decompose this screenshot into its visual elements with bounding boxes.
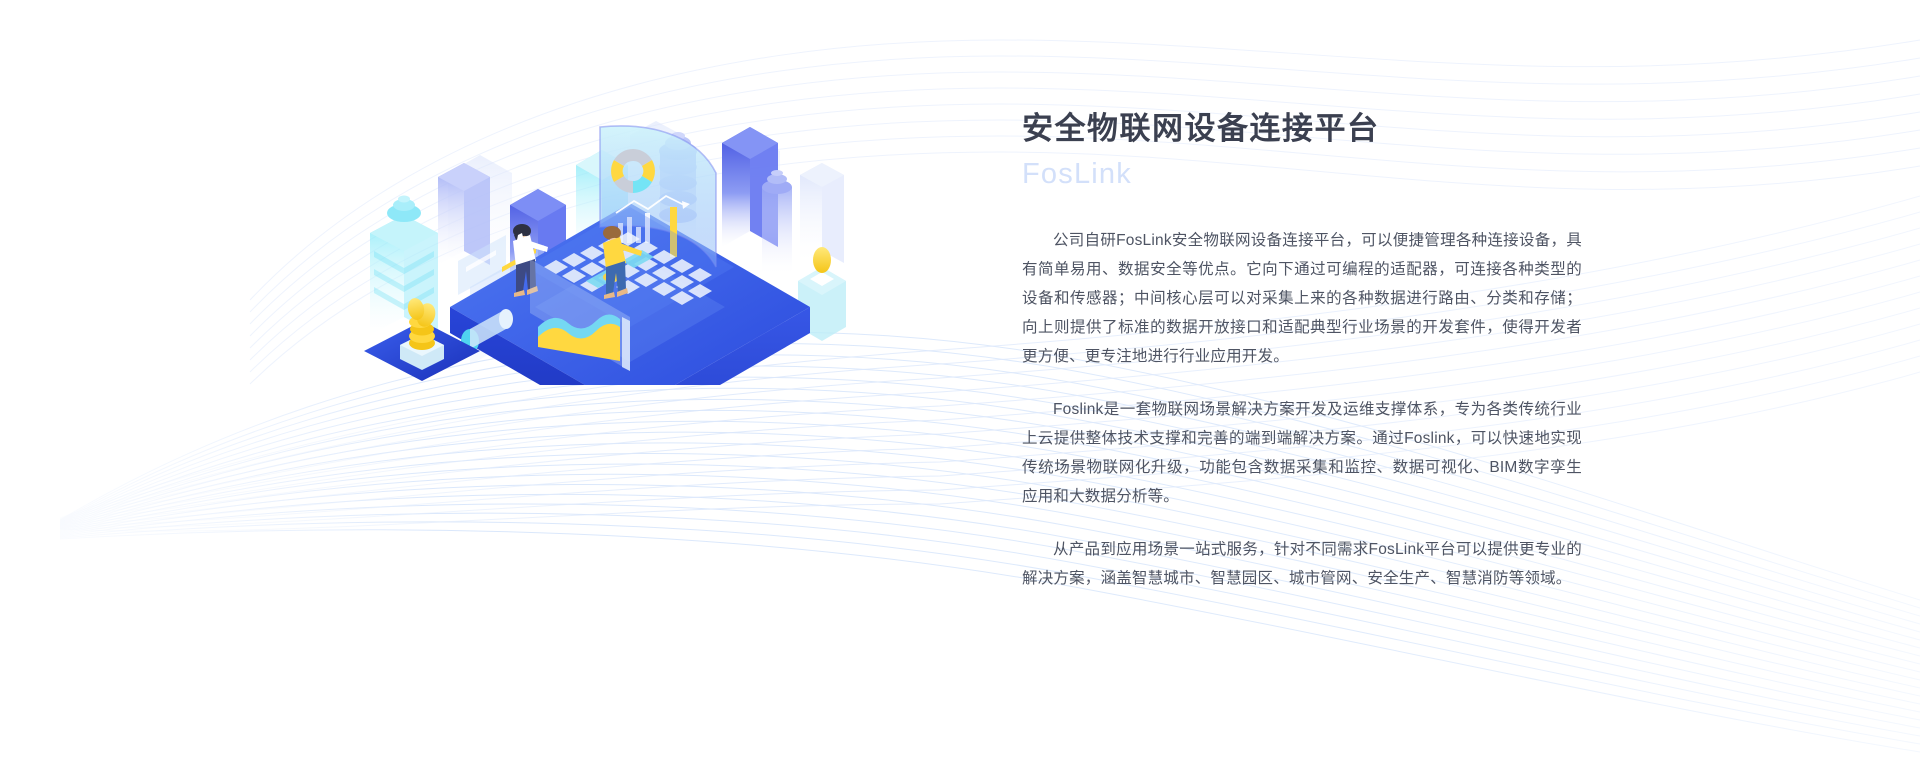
paragraph-2: Foslink是一套物联网场景解决方案开发及运维支撑体系，专为各类传统行业上云提… [1022,395,1582,511]
body-copy: 公司自研FosLink安全物联网设备连接平台，可以便捷管理各种连接设备，具有简单… [1022,226,1582,593]
paragraph-3: 从产品到应用场景一站式服务，针对不同需求FosLink平台可以提供更专业的解决方… [1022,535,1582,593]
building-round-right [762,170,792,273]
page-subtitle: FosLink [1022,155,1582,194]
isometric-iot-platform-illustration [330,55,850,385]
content-column: 安全物联网设备连接平台 FosLink 公司自研FosLink安全物联网设备连接… [1022,110,1582,593]
page-title: 安全物联网设备连接平台 [1022,110,1582,149]
paragraph-1: 公司自研FosLink安全物联网设备连接平台，可以便捷管理各种连接设备，具有简单… [1022,226,1582,371]
background-wave-lines [0,0,1920,760]
page-root: 安全物联网设备连接平台 FosLink 公司自研FosLink安全物联网设备连接… [0,0,1920,760]
